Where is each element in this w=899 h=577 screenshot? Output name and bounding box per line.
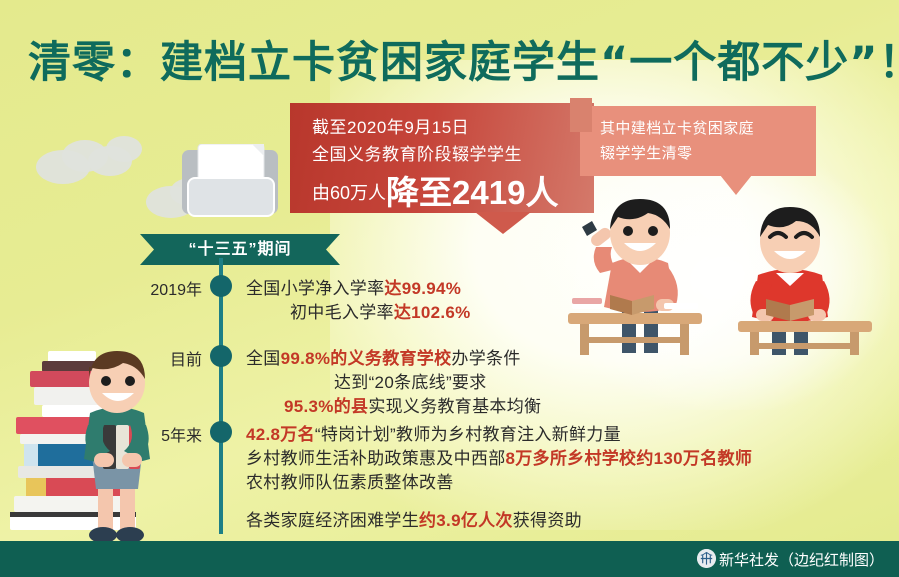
row-highlight: 95.3%的县	[284, 397, 368, 416]
period-banner-label: “十三五”期间	[140, 234, 340, 265]
callout-poverty-registered-cleared: 其中建档立卡贫困家庭 辍学学生清零	[580, 106, 816, 176]
row-highlight: 达102.6%	[394, 303, 471, 322]
row-line: 乡村教师生活补助政策惠及中西部8万多所乡村学校约130万名教师	[246, 444, 752, 469]
row-line: 42.8万名“特岗计划”教师为乡村教育注入新鲜力量	[246, 420, 621, 445]
row-highlight: 8万多所乡村学校约130万名教师	[506, 449, 753, 468]
row-text: 乡村教师生活补助政策惠及中西部	[246, 449, 506, 468]
xinhua-logo-icon	[697, 549, 716, 568]
timeline-axis	[219, 258, 223, 534]
callout-dropout-statistics: 截至2020年9月15日 全国义务教育阶段辍学学生 由60万人降至2419人	[290, 103, 594, 213]
footer-credit: 新华社发（边纪红制图）	[719, 549, 884, 570]
callout-tail	[475, 212, 531, 234]
student-left	[568, 199, 702, 355]
timeline-dot	[210, 421, 232, 443]
page-title: 清零：建档立卡贫困家庭学生“一个都不少”！	[28, 34, 868, 92]
row-text: 达到“20条底线”要求	[334, 373, 487, 392]
row-label-2019: 2019年	[120, 276, 202, 300]
students-at-desks-illustration	[560, 185, 899, 355]
row-highlight: 99.8%的义务教育学校	[281, 349, 452, 368]
callout-pink-line2: 辍学学生清零	[600, 142, 692, 163]
row-text: “特岗计划”教师为乡村教育注入新鲜力量	[315, 425, 621, 444]
row-text: 办学条件	[451, 349, 520, 368]
row-text: 初中毛入学率	[290, 303, 394, 322]
row-text: 各类家庭经济困难学生	[246, 511, 419, 530]
callout-pink-line1: 其中建档立卡贫困家庭	[600, 117, 754, 138]
row-line: 达到“20条底线”要求	[246, 368, 487, 393]
callout-red-line3: 由60万人降至2419人	[312, 166, 558, 214]
cloud-icon	[106, 136, 142, 162]
student-right	[738, 207, 872, 355]
folder-icon	[176, 144, 286, 224]
row-line: 95.3%的县实现义务教育基本均衡	[246, 392, 541, 417]
callout-red-line2: 全国义务教育阶段辍学学生	[312, 140, 522, 165]
callout-red-line3-prefix: 由60万人	[312, 183, 386, 203]
row-line: 初中毛入学率达102.6%	[246, 298, 590, 323]
row-line: 各类家庭经济困难学生约3.9亿人次获得资助	[246, 506, 582, 531]
boy-with-books-illustration	[0, 325, 180, 555]
callout-red-line1: 截至2020年9月15日	[312, 113, 469, 138]
row-line: 农村教师队伍素质整体改善	[246, 468, 454, 493]
timeline-dot	[210, 345, 232, 367]
row-text: 实现义务教育基本均衡	[368, 397, 541, 416]
row-highlight: 42.8万名	[246, 425, 315, 444]
row-text: 全国	[246, 349, 281, 368]
row-line: 全国小学净入学率达99.94%	[246, 274, 461, 299]
row-text: 农村教师队伍素质整体改善	[246, 473, 454, 492]
row-text: 获得资助	[513, 511, 582, 530]
callout-red-highlight: 降至2419人	[386, 174, 558, 211]
infographic-canvas: 截至2020年9月15日 全国义务教育阶段辍学学生 由60万人降至2419人 其…	[0, 0, 899, 577]
row-highlight: 达99.94%	[384, 279, 461, 298]
row-line: 全国99.8%的义务教育学校办学条件	[246, 344, 521, 369]
callout-pink-nub	[570, 98, 592, 132]
timeline-dot	[210, 275, 232, 297]
row-highlight: 约3.9亿人次	[419, 511, 513, 530]
row-text: 全国小学净入学率	[246, 279, 384, 298]
